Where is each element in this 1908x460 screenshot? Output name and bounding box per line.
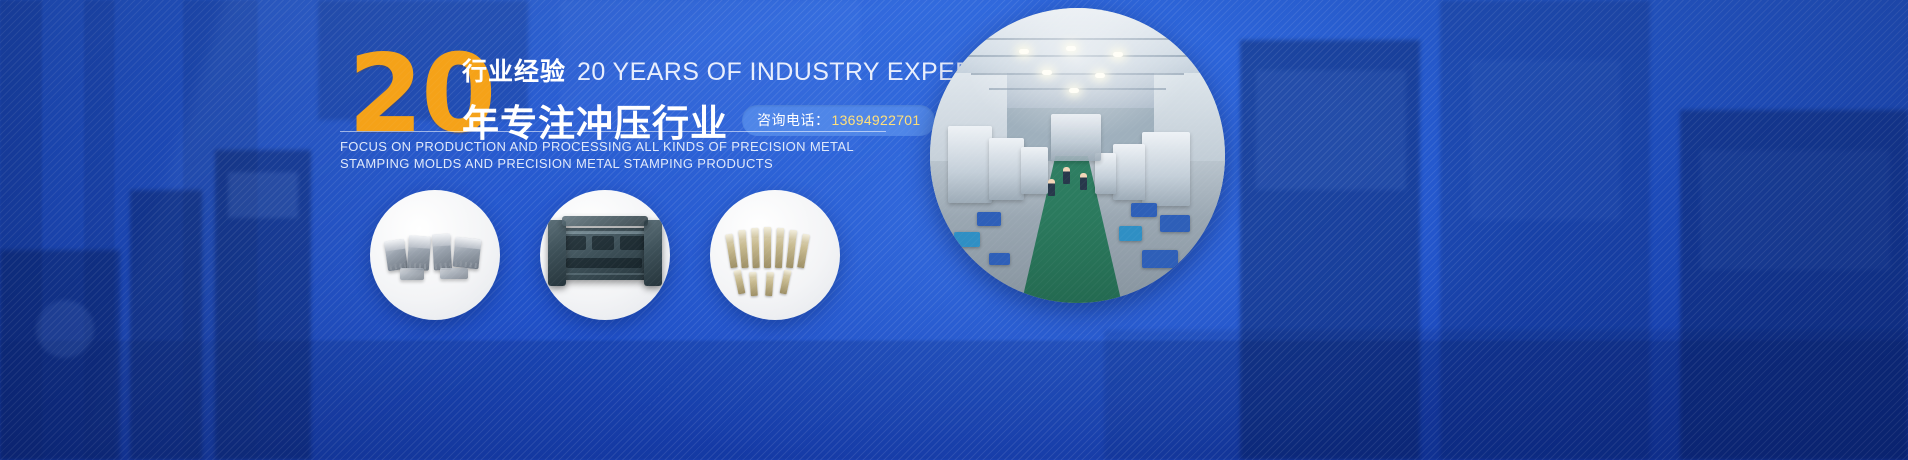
- divider-rule: [340, 131, 886, 132]
- product-circle-terminals: [710, 190, 840, 320]
- product-circle-mold: [540, 190, 670, 320]
- headline-line-1: 行业经验 20 YEARS OF INDUSTRY EXPERIENCE: [462, 52, 892, 88]
- phone-label: 咨询电话：: [757, 110, 830, 130]
- promo-banner: 20 行业经验 20 YEARS OF INDUSTRY EXPERIENCE …: [0, 0, 1908, 460]
- headline-cn-experience: 行业经验: [462, 52, 566, 88]
- factory-photo-circle: [930, 8, 1225, 303]
- phone-number: 13694922701: [832, 112, 921, 128]
- product-circle-connectors: [370, 190, 500, 320]
- headline-group: 行业经验 20 YEARS OF INDUSTRY EXPERIENCE 年专注…: [462, 52, 892, 147]
- banner-description: FOCUS ON PRODUCTION AND PROCESSING ALL K…: [340, 139, 900, 173]
